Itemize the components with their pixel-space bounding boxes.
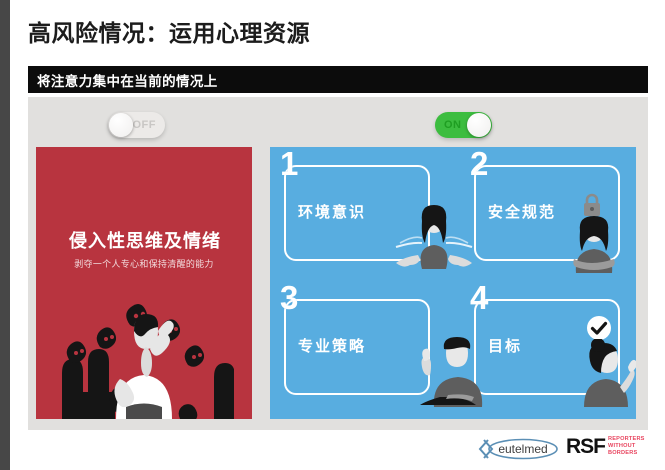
quadrant-2-label: 安全规范 [488,201,556,222]
off-toggle-knob[interactable] [109,113,133,137]
rsf-line2: WITHOUT BORDERS [608,443,637,456]
svg-text:eutelmed: eutelmed [498,442,547,456]
on-toggle-label: ON [444,119,462,131]
seated-woman-illustration [388,203,480,269]
red-panel-title: 侵入性思维及情绪 [50,227,240,253]
woman-bun-illustration [578,339,636,407]
quadrant-3-label: 专业策略 [298,335,366,356]
on-toggle[interactable]: ON [435,112,492,138]
slide-canvas: 高风险情况：运用心理资源 将注意力集中在当前的情况上 OFF ON 侵入性思维及… [0,0,665,470]
red-panel-subtitle: 剥夺一个人专心和保持清醒的能力 [46,257,242,270]
rsf-mark: RSF [566,436,605,457]
quadrant-1-label: 环境意识 [298,201,366,222]
lock-icon [582,193,602,217]
content-stage: OFF ON 侵入性思维及情绪 剥夺一个人专心和保持清醒的能力 [28,97,648,430]
woman-arms-crossed-illustration [566,215,622,273]
mental-resources-panel: 1 环境意识 2 安全规范 3 专业策略 [270,147,636,419]
off-toggle-label: OFF [133,119,157,131]
quadrant-3[interactable]: 3 专业策略 [276,287,432,399]
quadrant-2-number: 2 [470,147,488,180]
check-icon [586,315,612,341]
rsf-wordmark: REPORTERS WITHOUT BORDERS [608,436,653,457]
rsf-logo: RSF REPORTERS WITHOUT BORDERS [566,436,653,457]
shadow-hands-illustration [54,287,234,419]
subhead-bar: 将注意力集中在当前的情况上 [28,66,648,93]
page-title: 高风险情况：运用心理资源 [28,14,310,48]
man-laptop-illustration [418,335,496,407]
footer-logos: eutelmed RSF REPORTERS WITHOUT BORDERS [478,436,653,462]
quadrant-3-number: 3 [280,281,298,314]
subhead-text: 将注意力集中在当前的情况上 [37,70,218,90]
off-toggle[interactable]: OFF [108,112,165,138]
eutelmed-logo: eutelmed [478,438,562,460]
intrusive-thoughts-panel: 侵入性思维及情绪 剥夺一个人专心和保持清醒的能力 [36,147,252,419]
quadrant-4-number: 4 [470,281,488,314]
left-edge-rail [0,0,10,470]
quadrant-1-number: 1 [280,147,298,180]
on-toggle-knob[interactable] [467,113,491,137]
rsf-line1: REPORTERS [608,436,645,442]
